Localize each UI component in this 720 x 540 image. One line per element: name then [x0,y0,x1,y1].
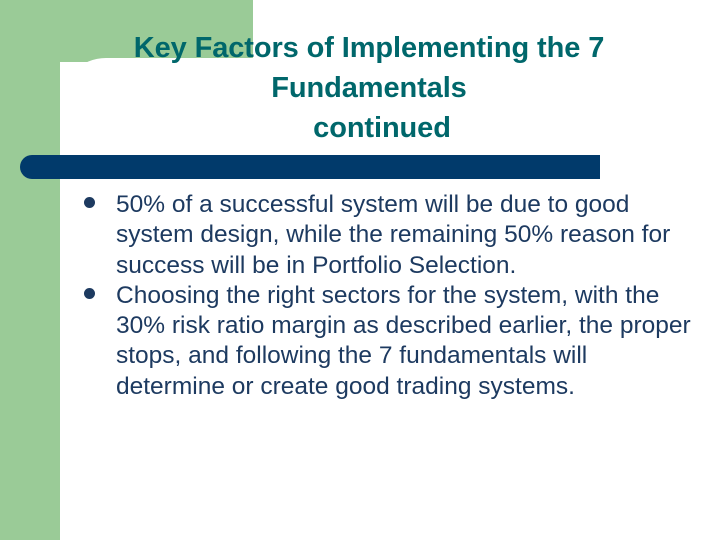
list-item-text: Choosing the right sectors for the syste… [116,281,700,402]
list-item: 50% of a successful system will be due t… [84,190,700,281]
bullet-list: 50% of a successful system will be due t… [84,190,700,402]
title-line-1: Key Factors of Implementing the 7 [60,28,678,68]
list-item-text: 50% of a successful system will be due t… [116,190,700,281]
blue-divider-bar [20,155,600,179]
list-item: Choosing the right sectors for the syste… [84,281,700,402]
slide: Key Factors of Implementing the 7 Fundam… [0,0,720,540]
title-line-3: continued [60,108,678,148]
slide-title: Key Factors of Implementing the 7 Fundam… [60,28,678,148]
filled-circle-bullet-icon [84,281,116,311]
title-line-2: Fundamentals [60,68,678,108]
green-side-strip [0,0,60,540]
filled-circle-bullet-icon [84,190,116,220]
